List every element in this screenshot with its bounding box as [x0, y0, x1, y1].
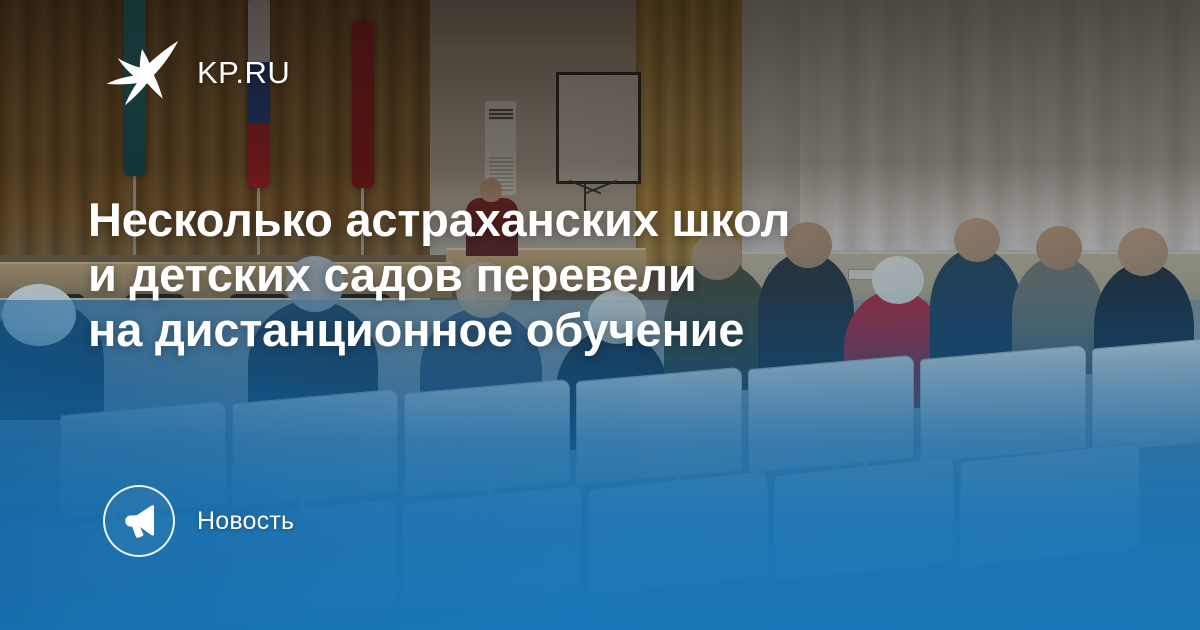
- badge-icon-circle: [103, 485, 175, 557]
- page-title: Несколько астраханских школ и детских са…: [88, 193, 1018, 358]
- card-content: KP.RU Несколько астраханских школ и детс…: [0, 0, 1200, 630]
- social-share-card: KP.RU Несколько астраханских школ и детс…: [0, 0, 1200, 630]
- brand-lockup[interactable]: KP.RU: [105, 35, 290, 109]
- headline-line-1: Несколько астраханских школ: [88, 193, 1018, 248]
- headline-line-2: и детских садов перевели: [88, 248, 1018, 303]
- headline-line-3: на дистанционное обучение: [88, 303, 1018, 358]
- swallow-bird-icon: [105, 35, 179, 109]
- brand-name: KP.RU: [197, 57, 290, 88]
- megaphone-icon: [119, 501, 159, 541]
- status-badge[interactable]: Новость: [103, 485, 294, 557]
- badge-label: Новость: [197, 507, 294, 536]
